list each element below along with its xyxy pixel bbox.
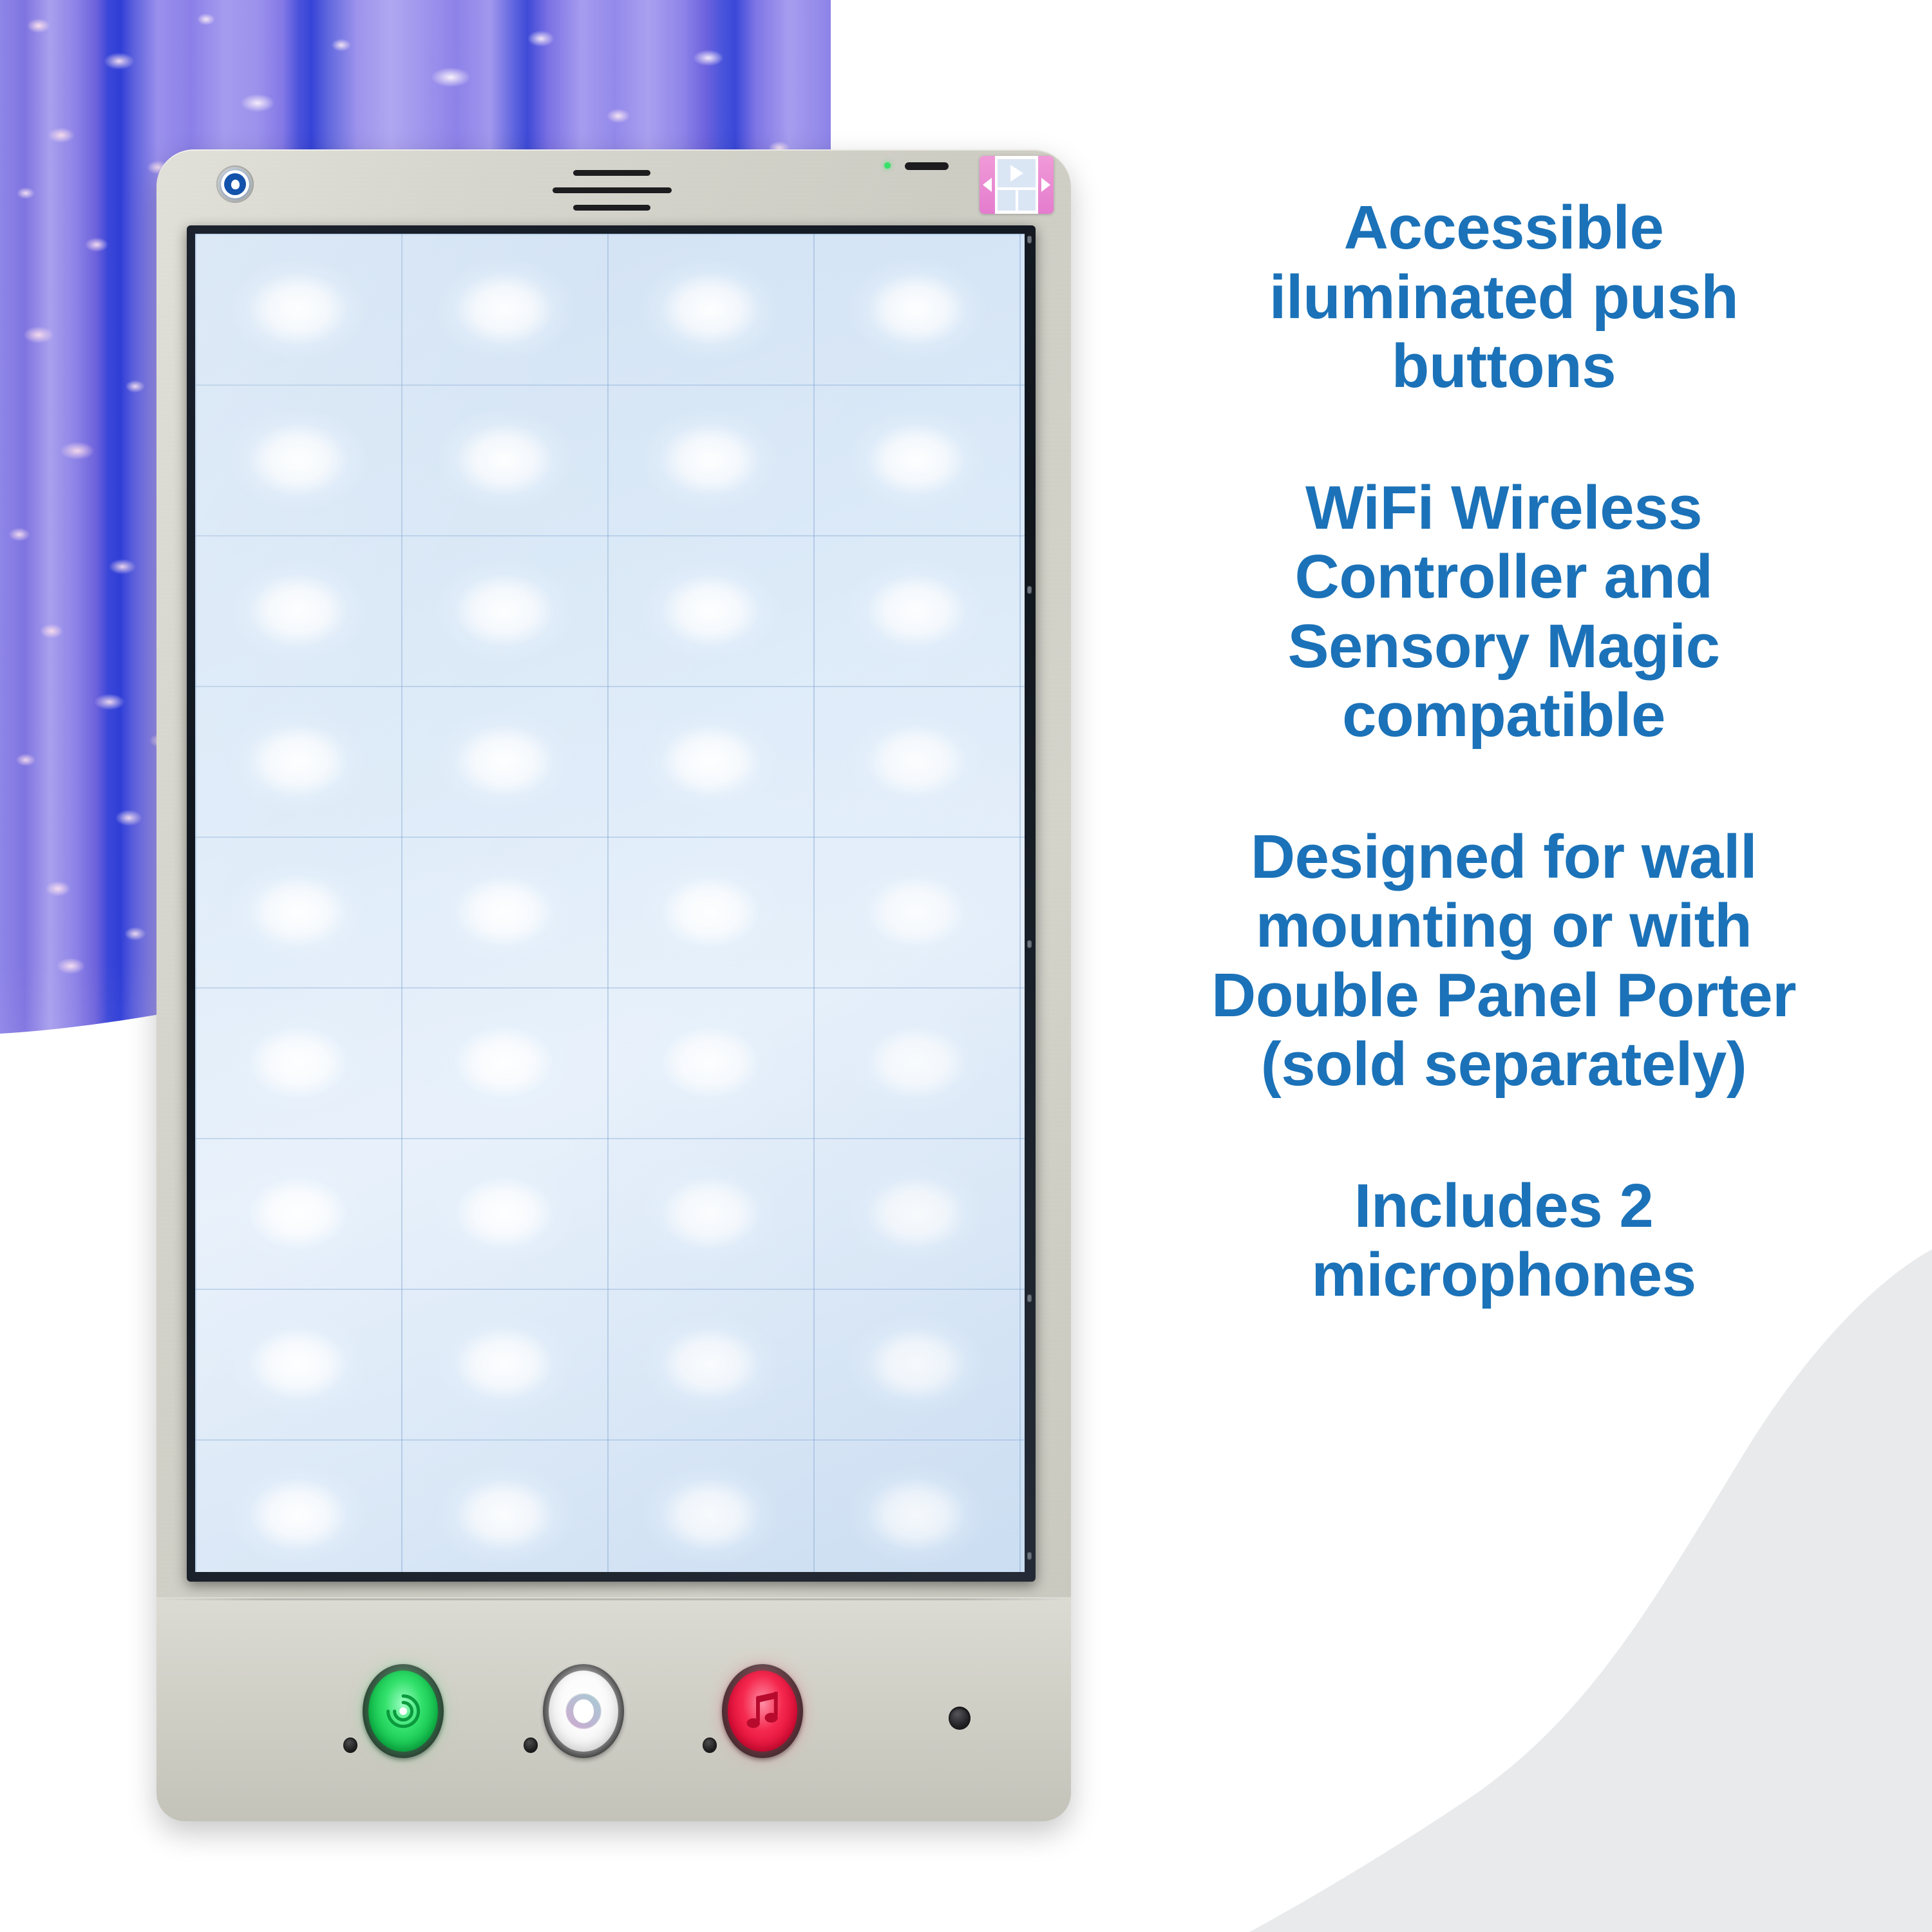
sticker-cell	[1018, 190, 1036, 211]
bezel-screw	[1027, 1552, 1032, 1560]
screen-gloss-overlay	[195, 234, 1025, 1572]
ir-receiver-slot	[905, 162, 949, 170]
swirl-effect-button[interactable]	[363, 1664, 444, 1758]
screen-bezel	[187, 225, 1036, 1582]
music-note-icon	[735, 1680, 790, 1743]
sticker-cell	[998, 190, 1016, 211]
corner-swoosh-shape	[1249, 1249, 1932, 1932]
sensory-led-panel	[156, 149, 1071, 1821]
sticker-left-arrow-icon	[980, 156, 995, 214]
led-light-grid-screen[interactable]	[195, 234, 1025, 1572]
sticker-diagram	[995, 156, 1038, 214]
play-triangle-icon	[1010, 165, 1023, 182]
bezel-screw	[1027, 236, 1032, 243]
status-led	[884, 162, 891, 169]
sticker-play-cell	[998, 159, 1036, 187]
button-cap	[549, 1671, 618, 1752]
feature-list: Accessible iluminated push buttons WiFi …	[1133, 193, 1874, 1310]
button-cap	[728, 1671, 797, 1752]
marketing-image-stage: Accessible iluminated push buttons WiFi …	[0, 0, 1932, 1932]
colour-wheel-button[interactable]	[543, 1664, 624, 1758]
colour-wheel-icon	[556, 1680, 611, 1743]
microphone-hole	[524, 1738, 538, 1753]
spiral-swirl-icon	[376, 1680, 430, 1743]
microphone-hole	[703, 1738, 717, 1753]
sticker-bottom-cells	[998, 190, 1036, 211]
feature-wifi-controller: WiFi Wireless Controller and Sensory Mag…	[1227, 473, 1781, 750]
speaker-grille	[553, 167, 672, 214]
power-indicator-dot	[231, 180, 240, 189]
speaker-slot	[573, 205, 650, 211]
feature-wall-mounting: Designed for wall mounting or with Doubl…	[1156, 822, 1851, 1099]
control-button-bar	[156, 1597, 1071, 1821]
music-button[interactable]	[722, 1664, 803, 1758]
speaker-slot	[553, 187, 672, 193]
panel-seam	[156, 1598, 1071, 1600]
bezel-screw	[1027, 1294, 1032, 1302]
feature-accessible-buttons: Accessible iluminated push buttons	[1253, 193, 1755, 401]
feature-microphones: Includes 2 microphones	[1259, 1171, 1748, 1310]
button-cap	[368, 1671, 438, 1752]
power-indicator-ring	[221, 170, 249, 198]
bezel-screw	[1027, 940, 1032, 948]
microphone-hole	[343, 1738, 357, 1753]
audio-jack-port	[949, 1707, 971, 1730]
speaker-slot	[573, 170, 650, 176]
sticker-right-arrow-icon	[1038, 156, 1054, 214]
bezel-screw	[1027, 586, 1032, 594]
power-target-indicator[interactable]	[216, 166, 254, 203]
spec-sticker	[980, 156, 1054, 214]
